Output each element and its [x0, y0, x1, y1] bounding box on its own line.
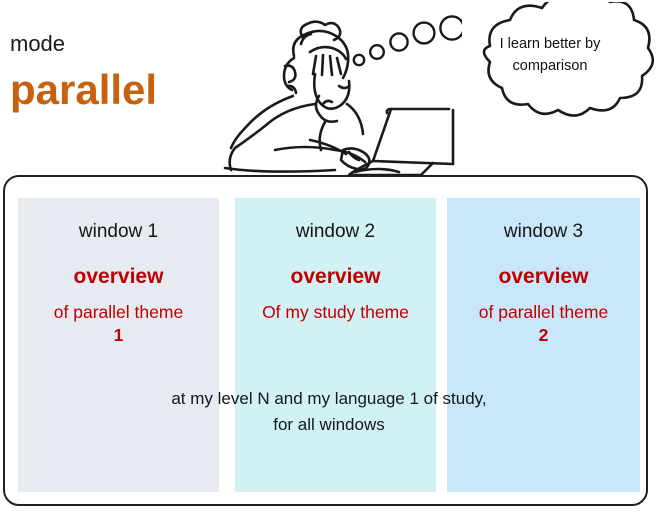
- mode-name: parallel: [10, 66, 157, 114]
- overview-description: of parallel theme: [18, 301, 219, 324]
- overview-number: 2: [447, 324, 640, 347]
- window-title: window 3: [447, 220, 640, 244]
- overview-description: of parallel theme: [447, 301, 640, 324]
- overview-heading: overview: [18, 264, 219, 289]
- window-title: window 1: [18, 220, 219, 244]
- overview-heading: overview: [447, 264, 640, 289]
- overview-number: 1: [18, 324, 219, 347]
- window-panel-1[interactable]: window 1 overview of parallel theme 1: [18, 198, 219, 492]
- mode-label: mode: [10, 31, 65, 57]
- overview-description: Of my study theme: [235, 301, 436, 324]
- window-title: window 2: [235, 220, 436, 244]
- window-panel-3[interactable]: window 3 overview of parallel theme 2: [447, 198, 640, 492]
- window-panel-2[interactable]: window 2 overview Of my study theme: [235, 198, 436, 492]
- thought-bubble-text: I learn better by comparison: [463, 33, 637, 77]
- overview-heading: overview: [235, 264, 436, 289]
